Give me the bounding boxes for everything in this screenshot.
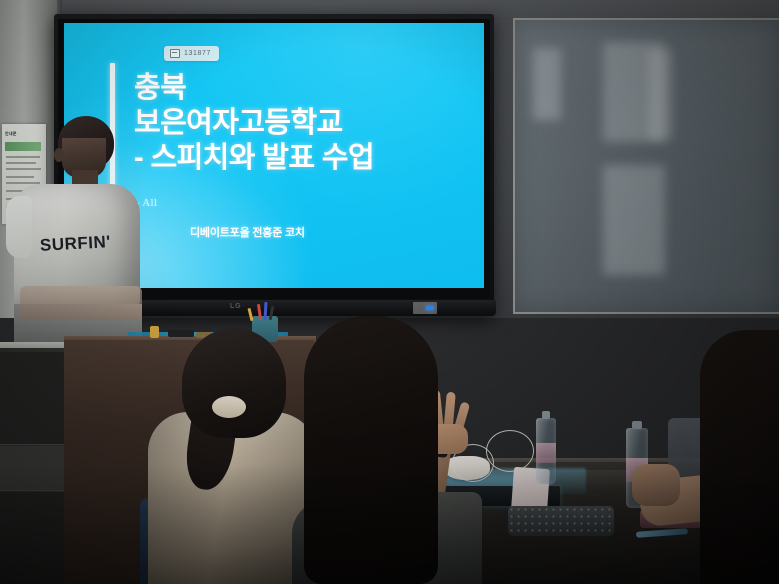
glass-reflection bbox=[603, 165, 665, 275]
student-hair bbox=[304, 316, 438, 584]
student-right-hair bbox=[700, 330, 779, 584]
display-power-led bbox=[426, 306, 434, 310]
display-brand-logo: LG bbox=[230, 303, 241, 310]
slide-subtitle: 디베이트포올 전홍준 코치 bbox=[190, 224, 305, 240]
slide-code-badge: 131877 bbox=[164, 46, 219, 61]
slide-title-line-1: 충북 bbox=[134, 71, 474, 106]
slide-code-text: 131877 bbox=[184, 50, 211, 57]
glass-reflection bbox=[533, 48, 561, 120]
bottle-cap bbox=[632, 421, 642, 429]
slide-title-line-3: - 스피치와 발표 수업 bbox=[134, 141, 474, 176]
document-icon bbox=[170, 49, 180, 58]
water-bottle[interactable] bbox=[536, 418, 556, 484]
slide-title-line-2: 보은여자고등학교 bbox=[134, 106, 474, 141]
classroom-photo-scene: 안내문 131877 bbox=[0, 0, 779, 584]
wall-gap-above-panel bbox=[513, 0, 779, 20]
bottle-cap bbox=[542, 411, 551, 419]
hair-scrunchie bbox=[212, 396, 246, 418]
podium-object bbox=[150, 326, 159, 338]
presenter-ear bbox=[54, 148, 64, 162]
presenter-sleeve bbox=[6, 196, 32, 258]
pencil-case-pattern bbox=[508, 506, 614, 536]
glass-reflection bbox=[649, 50, 673, 140]
presenter-tshirt-text: SURFIN' bbox=[40, 232, 112, 256]
student-hair bbox=[182, 328, 286, 438]
student-right-hand bbox=[632, 464, 680, 506]
slide-title-block: 충북 보은여자고등학교 - 스피치와 발표 수업 bbox=[134, 71, 474, 176]
glass-whiteboard-panel bbox=[513, 18, 779, 314]
presenter: SURFIN' bbox=[2, 108, 154, 353]
bottle-label bbox=[536, 443, 556, 463]
presenter-arm bbox=[20, 286, 142, 320]
podium-marker[interactable] bbox=[168, 330, 194, 337]
